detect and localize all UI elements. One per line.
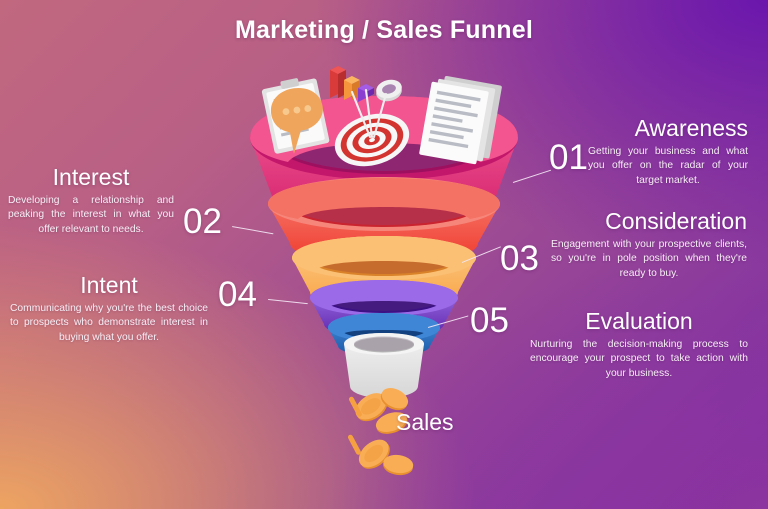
stage-heading-consideration: Consideration — [551, 209, 747, 235]
stage-heading-intent: Intent — [10, 273, 208, 299]
stage-block-awareness[interactable]: Awareness Getting your business and what… — [588, 116, 748, 189]
connector-line-consideration — [462, 246, 501, 263]
stage-number-01: 01 — [549, 140, 588, 175]
connector-line-evaluation — [428, 315, 469, 328]
infographic-canvas: Marketing / Sales Funnel — [0, 0, 768, 509]
stage-heading-awareness: Awareness — [588, 116, 748, 142]
funnel-cup-icon — [344, 333, 424, 398]
documents-icon — [419, 74, 502, 167]
clipboard-icon — [261, 74, 330, 154]
stage-block-interest[interactable]: Interest Developing a relationship and p… — [8, 165, 174, 238]
connector-line-interest — [232, 226, 274, 235]
funnel-layer-intent — [310, 280, 458, 338]
stage-body-interest: Developing a relationship and peaking th… — [8, 194, 174, 238]
stage-number-04: 04 — [218, 277, 257, 312]
stage-block-consideration[interactable]: Consideration Engagement with your prosp… — [551, 209, 747, 282]
stage-body-evaluation: Nurturing the decision-making process to… — [530, 338, 748, 382]
connector-line-awareness — [513, 170, 551, 184]
stage-body-intent: Communicating why you're the best choice… — [10, 302, 208, 346]
speech-bubble-icon — [268, 85, 329, 157]
ring-icon — [374, 77, 404, 104]
sales-label: Sales — [396, 409, 454, 436]
funnel-layer-consideration — [292, 236, 476, 310]
stage-number-05: 05 — [470, 303, 509, 338]
stage-block-evaluation[interactable]: Evaluation Nurturing the decision-making… — [530, 309, 748, 382]
ring-icon — [432, 106, 481, 154]
stage-block-intent[interactable]: Intent Communicating why you're the best… — [10, 273, 208, 346]
stage-number-02: 02 — [183, 204, 222, 239]
stage-heading-evaluation: Evaluation — [530, 309, 748, 335]
funnel-layer-evaluation — [328, 313, 440, 356]
stage-body-awareness: Getting your business and what you offer… — [588, 145, 748, 189]
stage-body-consideration: Engagement with your prospective clients… — [551, 238, 747, 282]
stage-heading-interest: Interest — [8, 165, 174, 191]
stage-number-03: 03 — [500, 241, 539, 276]
funnel-layer-interest — [268, 177, 500, 264]
dartboard-icon — [329, 90, 416, 175]
funnel-layer-awareness — [250, 96, 518, 226]
bar-chart-icon — [330, 66, 374, 102]
page-title: Marketing / Sales Funnel — [0, 16, 768, 45]
connector-line-intent — [268, 299, 308, 305]
